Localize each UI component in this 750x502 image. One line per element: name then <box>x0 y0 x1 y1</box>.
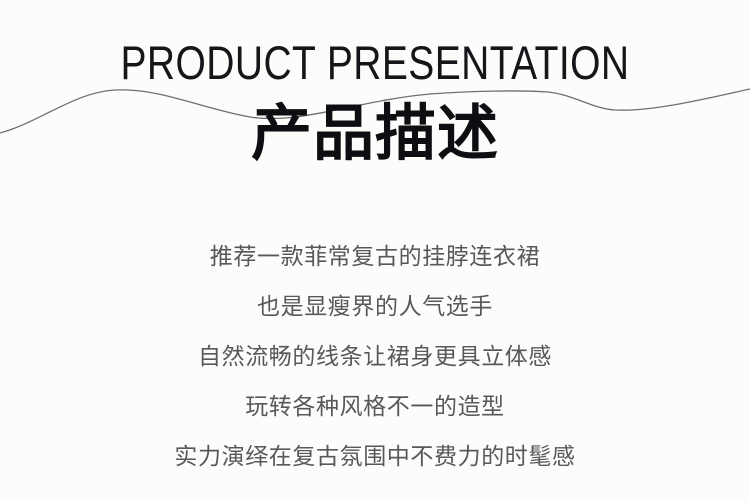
description-line: 自然流畅的线条让裙身更具立体感 <box>0 332 750 382</box>
description-line: 玩转各种风格不一的造型 <box>0 382 750 432</box>
product-presentation-page: PRODUCT PRESENTATION 产品描述 推荐一款菲常复古的挂脖连衣裙… <box>0 0 750 502</box>
header-section: PRODUCT PRESENTATION 产品描述 <box>0 0 750 200</box>
description-text-block: 推荐一款菲常复古的挂脖连衣裙 也是显瘦界的人气选手 自然流畅的线条让裙身更具立体… <box>0 232 750 482</box>
page-title-english: PRODUCT PRESENTATION <box>64 38 687 88</box>
description-line: 实力演绎在复古氛围中不费力的时髦感 <box>0 432 750 482</box>
description-line: 推荐一款菲常复古的挂脖连衣裙 <box>0 232 750 282</box>
page-title-chinese: 产品描述 <box>0 100 750 168</box>
description-line: 也是显瘦界的人气选手 <box>0 282 750 332</box>
